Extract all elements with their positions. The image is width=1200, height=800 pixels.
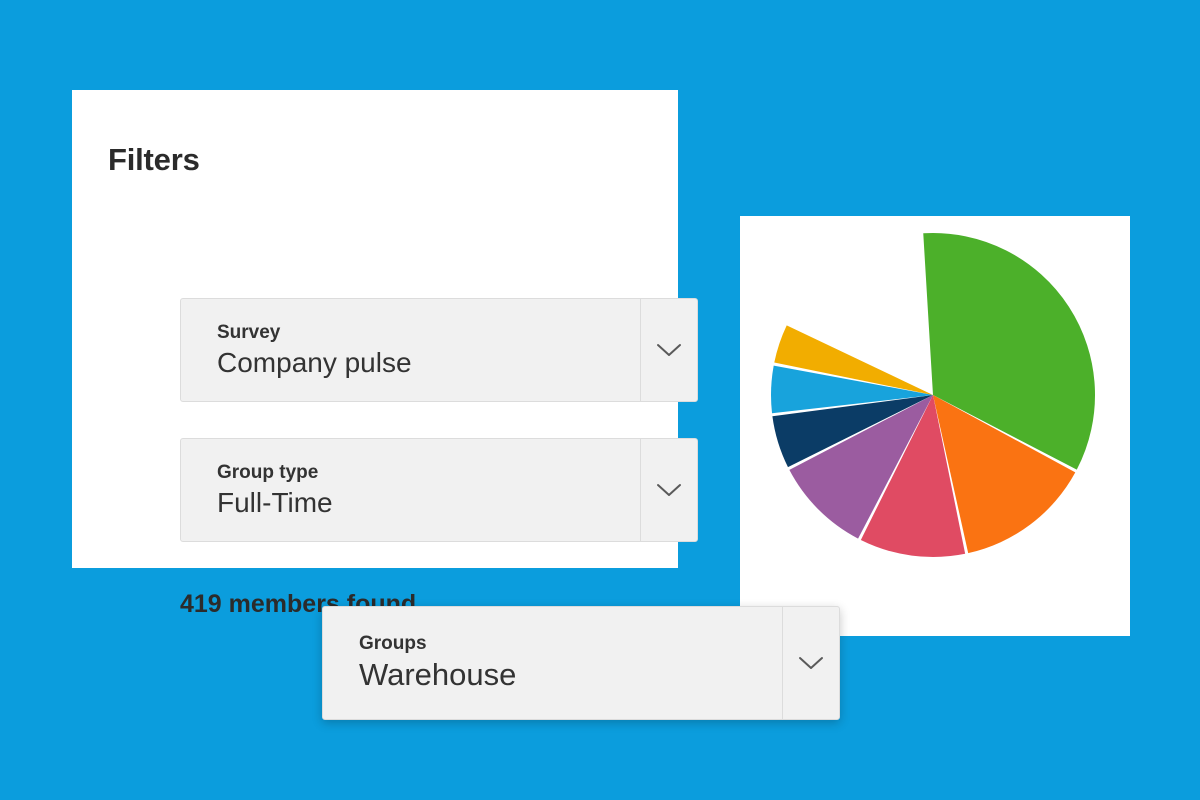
group-type-select[interactable]: Group type Full-Time xyxy=(180,438,698,542)
group-type-select-label: Group type xyxy=(217,462,624,484)
screen: Filters Survey Company pulse Group type … xyxy=(0,0,1200,800)
groups-select-value: Warehouse xyxy=(359,656,766,695)
chevron-down-icon[interactable] xyxy=(640,299,697,401)
pie-chart xyxy=(768,230,1098,560)
group-type-select-body[interactable]: Group type Full-Time xyxy=(181,439,640,541)
groups-select-label: Groups xyxy=(359,633,766,655)
chart-card xyxy=(740,216,1130,636)
groups-select[interactable]: Groups Warehouse xyxy=(322,606,840,720)
chevron-down-icon[interactable] xyxy=(640,439,697,541)
survey-select-label: Survey xyxy=(217,322,624,344)
survey-select-body[interactable]: Survey Company pulse xyxy=(181,299,640,401)
survey-select-value: Company pulse xyxy=(217,345,624,380)
group-type-select-value: Full-Time xyxy=(217,485,624,520)
survey-select[interactable]: Survey Company pulse xyxy=(180,298,698,402)
chevron-down-icon[interactable] xyxy=(782,607,839,719)
pie-chart-svg xyxy=(768,230,1098,560)
page-title: Filters xyxy=(108,144,200,175)
filters-panel: Filters Survey Company pulse Group type … xyxy=(72,90,678,568)
groups-select-body[interactable]: Groups Warehouse xyxy=(323,607,782,719)
